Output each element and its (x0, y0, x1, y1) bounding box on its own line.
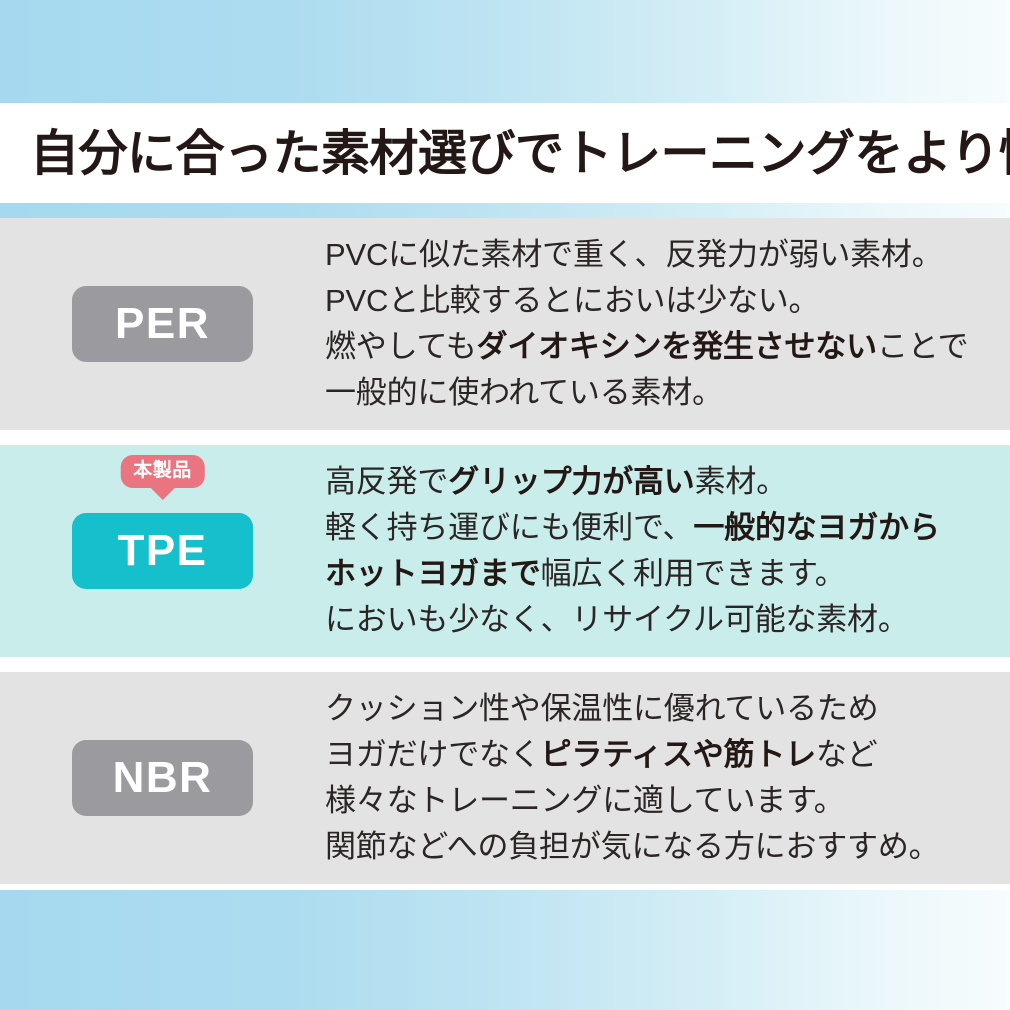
material-description-per: PVCに似た素材で重く、反発力が弱い素材。 PVCと比較するとにおいは少ない。 … (325, 232, 1010, 416)
material-description-nbr: クッション性や保温性に優れているため ヨガだけでなくピラティスや筋トレなど 様々… (325, 686, 1010, 870)
chip-wrap-nbr: NBR (72, 740, 253, 816)
desc-text: ことで (877, 329, 968, 364)
desc-line: 関節などへの負担が気になる方におすすめ。 (325, 824, 970, 870)
desc-text: 一般的に使われている素材。 (325, 375, 723, 410)
desc-line: 燃やしてもダイオキシンを発生させないことで (325, 324, 970, 370)
desc-text: 高反発で (325, 464, 448, 499)
material-row-tpe: 本製品 TPE 高反発でグリップ力が高い素材。 軽く持ち運びにも便利で、一般的な… (0, 445, 1010, 657)
infographic-page: 自分に合った素材選びでトレーニングをより快適に PER PVCに似た素材で重く、… (0, 0, 1010, 1010)
desc-text: 燃やしても (325, 329, 477, 364)
chip-wrap-per: PER (72, 286, 253, 362)
this-product-badge: 本製品 (120, 455, 205, 488)
page-title: 自分に合った素材選びでトレーニングをより快適に (30, 118, 985, 190)
material-row-nbr: NBR クッション性や保温性に優れているため ヨガだけでなくピラティスや筋トレな… (0, 672, 1010, 884)
desc-line: PVCと比較するとにおいは少ない。 (325, 278, 970, 324)
bottom-gradient-band (0, 890, 1010, 1010)
desc-text-bold: ピラティスや筋トレ (541, 737, 816, 772)
desc-line: クッション性や保温性に優れているため (325, 686, 970, 732)
desc-line: 高反発でグリップ力が高い素材。 (325, 459, 970, 505)
desc-line: 様々なトレーニングに適しています。 (325, 778, 970, 824)
material-row-per: PER PVCに似た素材で重く、反発力が弱い素材。 PVCと比較するとにおいは少… (0, 218, 1010, 430)
desc-text: PVCと比較するとにおいは少ない。 (325, 283, 819, 318)
desc-text: においも少なく、リサイクル可能な素材。 (325, 602, 909, 637)
material-chip-per: PER (72, 286, 253, 362)
title-underline-stripe (0, 203, 1010, 218)
desc-text: 軽く持ち運びにも便利で、 (325, 510, 693, 545)
desc-text: PVCに似た素材で重く、反発力が弱い素材。 (325, 237, 943, 272)
chip-wrap-tpe: 本製品 TPE (72, 513, 253, 589)
desc-text: など (816, 737, 878, 772)
chip-column-per: PER (0, 218, 325, 430)
desc-text: クッション性や保温性に優れているため (325, 691, 878, 726)
desc-line: 軽く持ち運びにも便利で、一般的なヨガから (325, 505, 970, 551)
desc-text: 素材。 (695, 464, 787, 499)
material-chip-tpe: TPE (72, 513, 253, 589)
desc-line: PVCに似た素材で重く、反発力が弱い素材。 (325, 232, 970, 278)
desc-text: 様々なトレーニングに適しています。 (325, 783, 845, 818)
chip-column-nbr: NBR (0, 672, 325, 884)
desc-line: 一般的に使われている素材。 (325, 370, 970, 416)
top-gradient-band (0, 0, 1010, 103)
desc-text: 幅広く利用できます。 (541, 556, 846, 591)
desc-line: ホットヨガまで幅広く利用できます。 (325, 551, 970, 597)
desc-text: 関節などへの負担が気になる方におすすめ。 (325, 829, 939, 864)
material-chip-nbr: NBR (72, 740, 253, 816)
desc-text-bold: 一般的なヨガから (693, 510, 939, 545)
material-description-tpe: 高反発でグリップ力が高い素材。 軽く持ち運びにも便利で、一般的なヨガから ホット… (325, 459, 1010, 643)
desc-text-bold: ダイオキシンを発生させない (477, 329, 877, 364)
desc-text-bold: グリップ力が高い (448, 464, 694, 499)
desc-line: においも少なく、リサイクル可能な素材。 (325, 597, 970, 643)
desc-text: ヨガだけでなく (325, 737, 541, 772)
chip-column-tpe: 本製品 TPE (0, 445, 325, 657)
desc-text-bold: ホットヨガまで (325, 556, 541, 591)
desc-line: ヨガだけでなくピラティスや筋トレなど (325, 732, 970, 778)
